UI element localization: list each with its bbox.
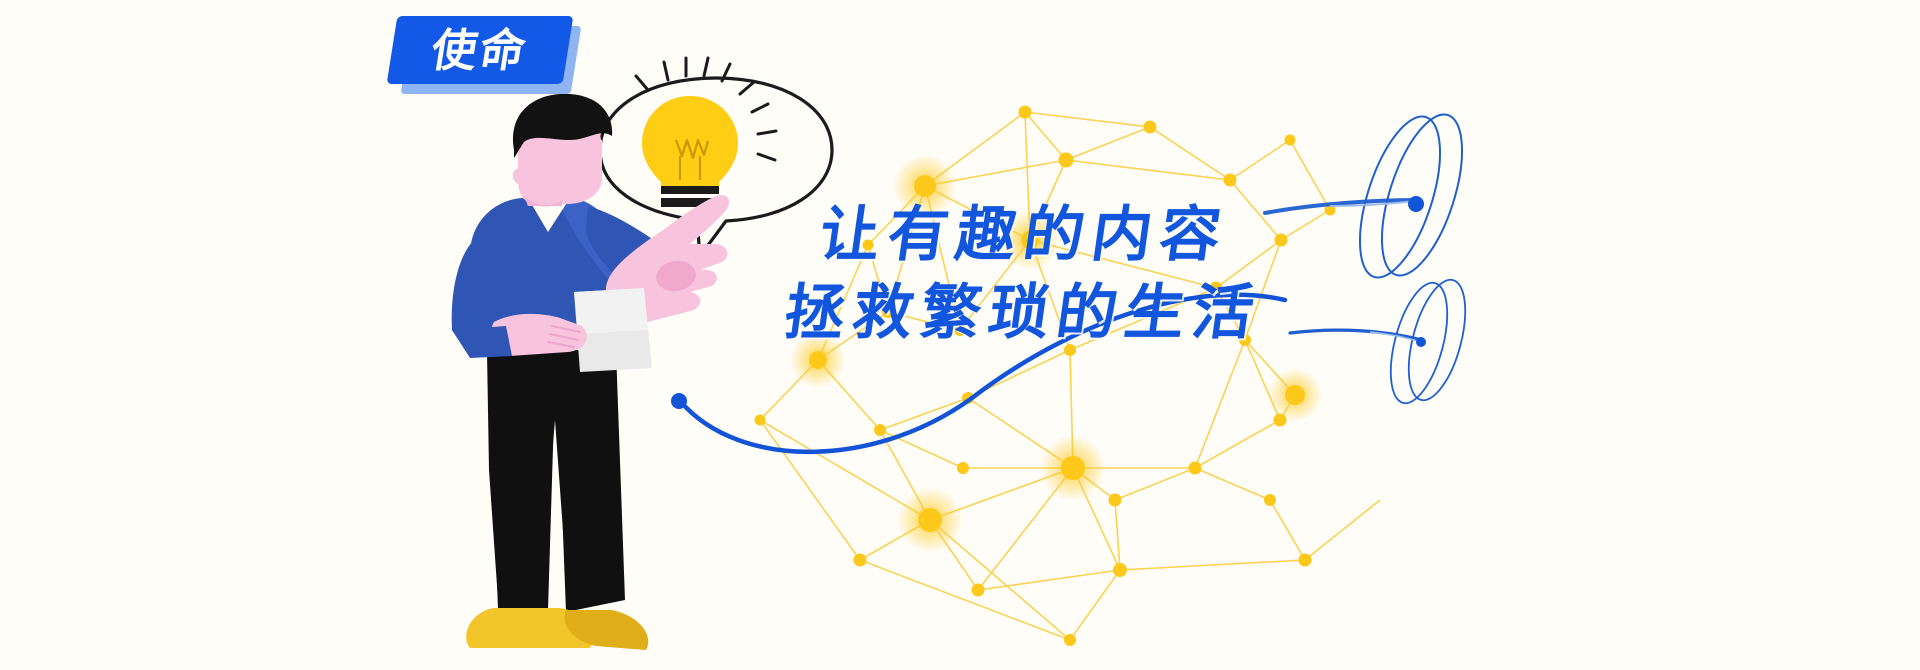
mission-badge: 使命: [392, 8, 582, 100]
idea-speech-bubble: [600, 58, 832, 256]
headline-line-2: 拯救繁琐的生活: [780, 274, 1526, 352]
headline: 让有趣的内容 拯救繁琐的生活: [820, 196, 1520, 352]
badge-label: 使命: [387, 16, 574, 84]
hero-banner: 使命 让有趣的内容 拯救繁琐的生活: [0, 0, 1920, 670]
headline-line-1: 让有趣的内容: [815, 196, 1526, 274]
